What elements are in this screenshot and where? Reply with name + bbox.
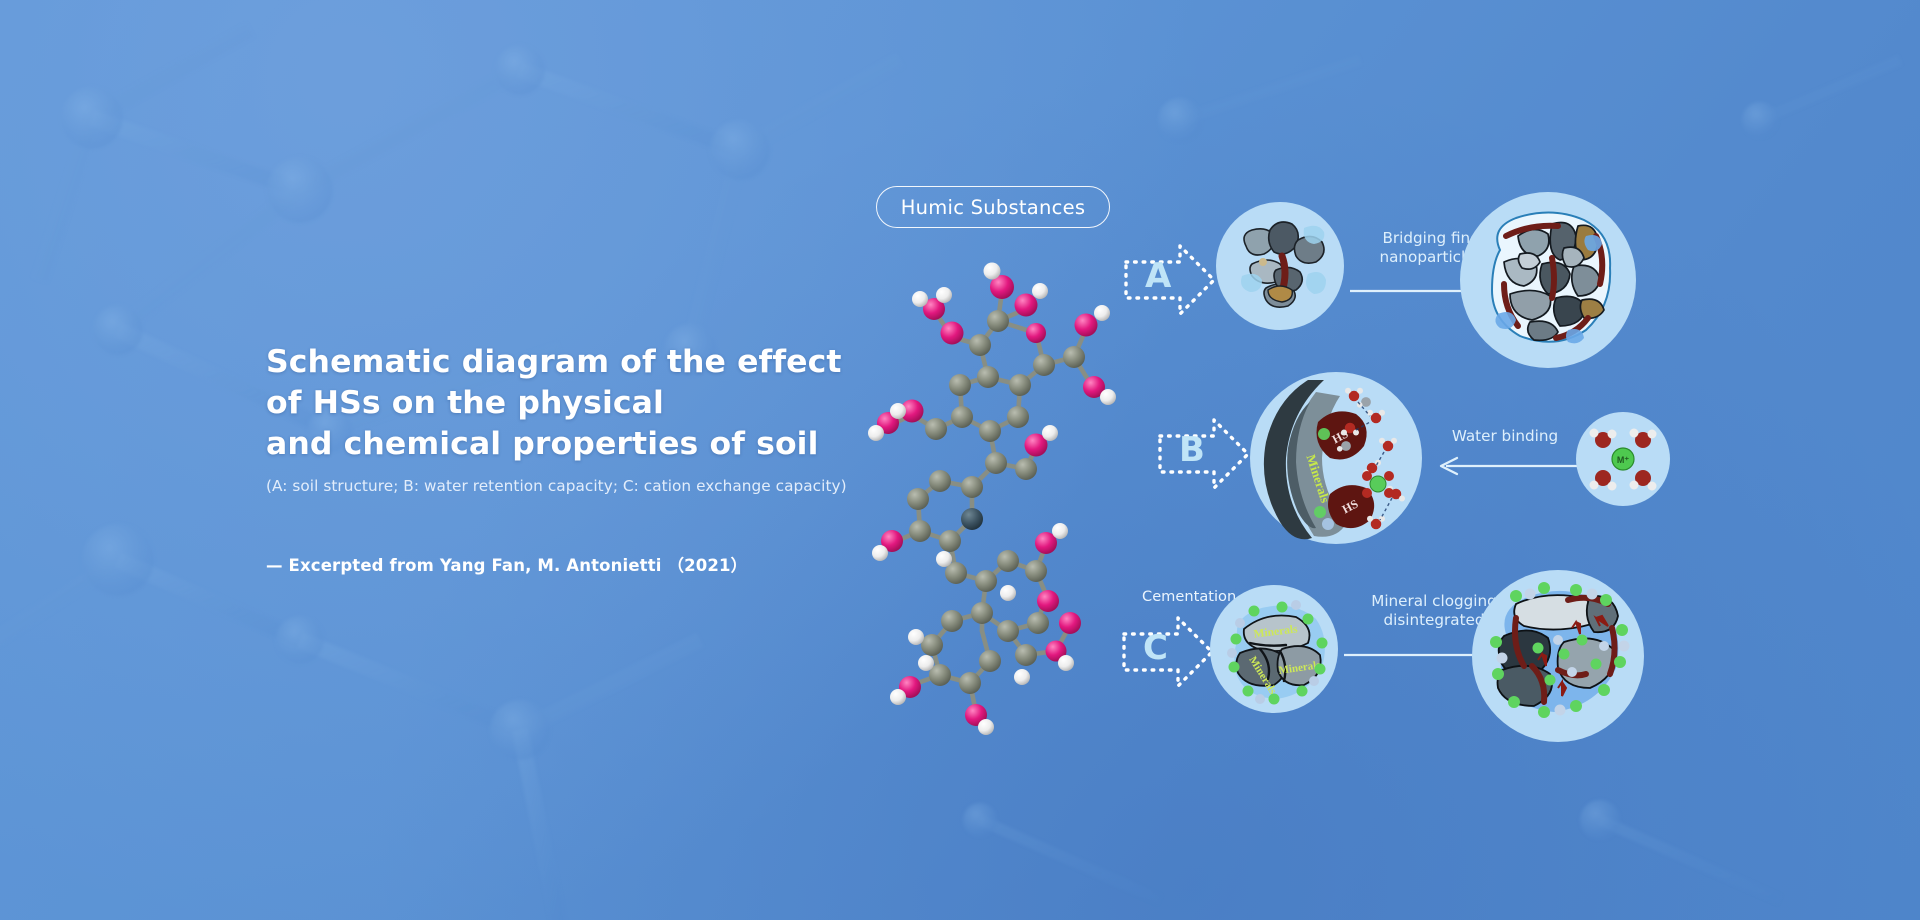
attribution-citation: — Excerpted from Yang Fan, M. Antonietti… xyxy=(266,552,906,576)
step-letter-A: A xyxy=(1145,259,1171,293)
panel-bound-soil-aggregate[interactable] xyxy=(1460,192,1636,368)
panel-dispersed-soil-particles[interactable] xyxy=(1216,202,1344,330)
humic-substances-chip-label: Humic Substances xyxy=(901,196,1085,219)
page-title-line-1: Schematic diagram of the effect xyxy=(266,342,906,383)
panel-hydrated-cation[interactable]: M⁺ xyxy=(1576,412,1670,506)
panel-disintegrated-mineral-cation-exchange[interactable] xyxy=(1472,570,1644,742)
left-copy-block: Schematic diagram of the effect of HSs o… xyxy=(266,342,906,576)
humic-substances-chip[interactable]: Humic Substances xyxy=(876,186,1110,228)
panel-humic-mineral-water-complex[interactable]: Minerals HS HS xyxy=(1250,372,1422,544)
page-subtitle: (A: soil structure; B: water retention c… xyxy=(266,477,906,495)
panel-cemented-mineral-cluster[interactable]: Minerals Minerals Minerals xyxy=(1210,585,1338,713)
page-title-line-3: and chemical properties of soil xyxy=(266,424,906,465)
flow-arrow-B xyxy=(1434,455,1580,477)
step-letter-C: C xyxy=(1143,631,1168,665)
page-title-line-2: of HSs on the physical xyxy=(266,383,906,424)
step-arrow-C[interactable] xyxy=(1120,612,1216,692)
flow-label-B: Water binding xyxy=(1440,427,1570,446)
cation-symbol: M⁺ xyxy=(1617,455,1629,465)
step-letter-B: B xyxy=(1179,433,1205,467)
page-title: Schematic diagram of the effect of HSs o… xyxy=(266,342,906,465)
